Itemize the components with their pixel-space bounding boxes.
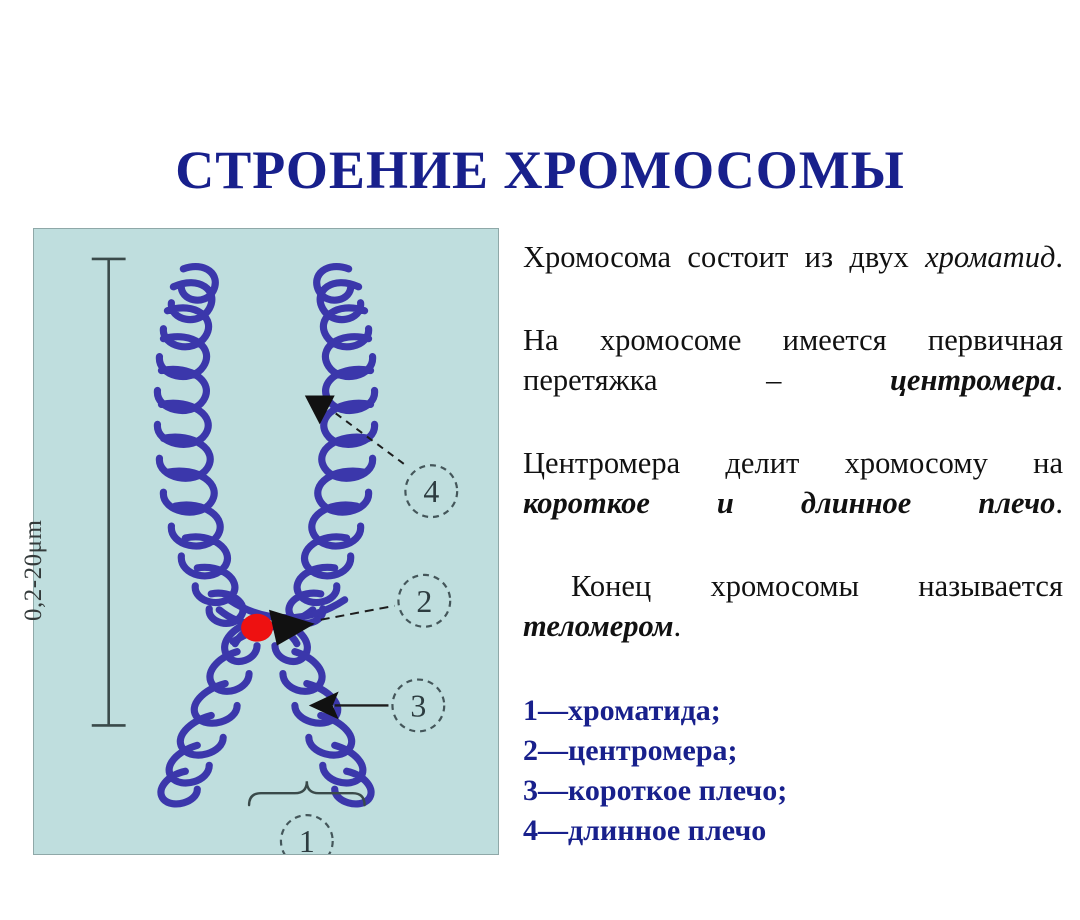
legend-item-4: 4—длинное плечо: [523, 811, 1063, 851]
p4-text-2: .: [674, 609, 682, 643]
legend-item-2-label: центромера;: [568, 734, 738, 767]
p3-text-1: Центромера делит хромосому на: [523, 446, 1063, 480]
page-title: СТРОЕНИЕ ХРОМОСОМЫ: [0, 142, 1080, 199]
p1-emphasis: хроматид: [925, 240, 1055, 274]
legend-item-1-dash: —: [538, 694, 568, 727]
chromosome-figure: 4 2 3 1: [34, 229, 498, 854]
legend-item-3-label: короткое плечо;: [568, 774, 787, 807]
legend-item-1-number: 1: [523, 694, 538, 727]
p2-text-2: .: [1055, 363, 1063, 397]
legend-item-4-dash: —: [538, 814, 568, 847]
callout-4-number: 4: [423, 474, 439, 509]
legend-item-3-number: 3: [523, 774, 538, 807]
paragraph-arms: Центромера делит хромосому на короткое и…: [523, 444, 1063, 563]
callout-3-circle: 3: [392, 680, 444, 732]
legend-item-1: 1—хроматида;: [523, 691, 1063, 731]
paragraph-chromatids: Хромосома состоит из двух хроматид.: [523, 238, 1063, 317]
centromere-red-dot: [241, 614, 273, 642]
p4-emphasis: теломером: [523, 609, 674, 643]
legend-item-4-label: длинное плечо: [568, 814, 766, 847]
legend-item-2-number: 2: [523, 734, 538, 767]
legend-item-2-dash: —: [538, 734, 568, 767]
description-column: Хромосома состоит из двух хроматид. На х…: [523, 238, 1063, 851]
chromosome-coils: [157, 267, 374, 804]
p1-text-2: .: [1055, 240, 1063, 274]
p2-emphasis: центромера: [890, 363, 1055, 397]
callout-4-circle: 4: [405, 465, 457, 517]
callout-1-number: 1: [299, 824, 315, 854]
legend-item-2: 2—центромера;: [523, 731, 1063, 771]
p3-text-2: .: [1055, 486, 1063, 520]
legend-list: 1—хроматида; 2—центромера; 3—короткое пл…: [523, 691, 1063, 851]
p1-text-1: Хромосома состоит из двух: [523, 240, 925, 274]
chromosome-diagram-panel: 0,2-20μm: [33, 228, 499, 855]
legend-item-3: 3—короткое плечо;: [523, 771, 1063, 811]
scale-bar: [92, 259, 126, 726]
callout-2-number: 2: [416, 584, 432, 619]
legend-item-4-number: 4: [523, 814, 538, 847]
callout-3-number: 3: [410, 688, 426, 723]
callout-1-circle: 1: [281, 815, 333, 854]
paragraph-telomere: Конец хромосомы называется теломером.: [523, 567, 1063, 686]
paragraph-centromere-definition: На хромосоме имеется первичная перетяжка…: [523, 321, 1063, 440]
p4-text-1: Конец хромосомы называется: [571, 569, 1063, 603]
callout-2-circle: 2: [398, 575, 450, 627]
legend-item-1-label: хроматида;: [568, 694, 721, 727]
p3-emphasis: короткое и длинное плечо: [523, 486, 1055, 520]
legend-item-3-dash: —: [538, 774, 568, 807]
scale-label: 0,2-20μm: [20, 461, 48, 621]
